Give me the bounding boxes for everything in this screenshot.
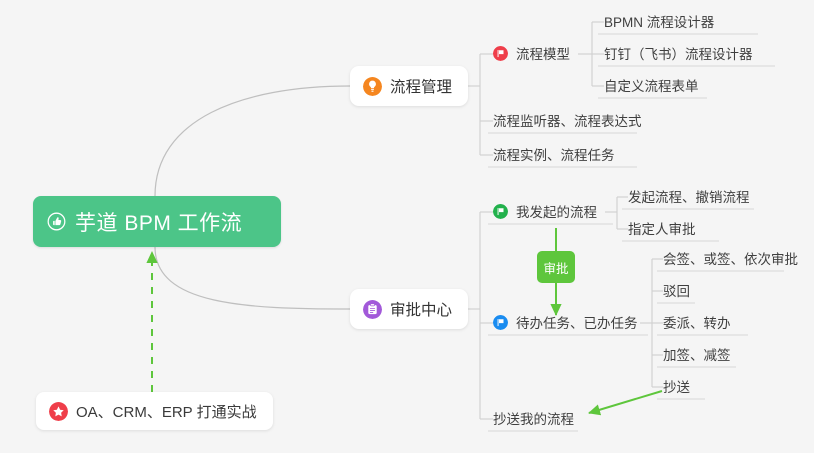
node-reject[interactable]: 驳回 [663,280,690,304]
branch-process-management[interactable]: 流程管理 [350,66,468,106]
node-my-started-processes[interactable]: 我发起的流程 [493,201,597,225]
node-label: 加签、减签 [663,344,731,364]
root-label: 芋道 BPM 工作流 [75,207,242,237]
lightbulb-icon [363,77,382,96]
node-label: 发起流程、撤销流程 [628,186,750,206]
node-label: BPMN 流程设计器 [604,11,714,31]
node-label: 指定人审批 [628,218,696,238]
node-assignee-approval[interactable]: 指定人审批 [628,218,696,242]
node-add-remove-sign[interactable]: 加签、减签 [663,344,731,368]
edge-root-to-approval-center [155,247,350,309]
flag-icon [493,315,508,330]
annotation-label: OA、CRM、ERP 打通实战 [76,401,257,422]
node-process-instance-task[interactable]: 流程实例、流程任务 [493,144,615,168]
star-icon [49,402,68,421]
node-delegate-transfer[interactable]: 委派、转办 [663,312,731,336]
node-label: 钉钉（飞书）流程设计器 [604,43,753,63]
node-cc[interactable]: 抄送 [663,376,690,400]
node-dingtalk-feishu-designer[interactable]: 钉钉（飞书）流程设计器 [604,43,753,67]
node-custom-process-form[interactable]: 自定义流程表单 [604,75,699,99]
annotation-label: 审批 [543,258,568,277]
node-process-model[interactable]: 流程模型 [493,43,570,67]
mindmap-canvas: 芋道 BPM 工作流 流程管理 流程模型 BPMN 流程设计器 钉钉（飞书）流程… [0,0,814,453]
flag-icon [493,46,508,61]
node-label: 自定义流程表单 [604,75,699,95]
clipboard-icon [363,300,382,319]
node-label: 会签、或签、依次审批 [663,248,798,268]
annotation-integration-note[interactable]: OA、CRM、ERP 打通实战 [36,392,273,430]
node-label: 流程模型 [516,43,570,63]
node-countersign-orsign-sequential[interactable]: 会签、或签、依次审批 [663,248,798,272]
node-start-cancel-process[interactable]: 发起流程、撤销流程 [628,186,750,210]
branch-label: 审批中心 [390,298,452,320]
branch-approval-center[interactable]: 审批中心 [350,289,468,329]
root-node[interactable]: 芋道 BPM 工作流 [33,196,281,247]
node-label: 抄送 [663,376,690,396]
flag-icon [493,204,508,219]
node-label: 委派、转办 [663,312,731,332]
node-cc-to-me-processes[interactable]: 抄送我的流程 [493,408,574,432]
node-label: 流程监听器、流程表达式 [493,110,642,130]
annotation-arrow-cc-to-ccme [589,391,662,413]
branch-label: 流程管理 [390,75,452,97]
node-label: 抄送我的流程 [493,408,574,428]
node-label: 待办任务、已办任务 [516,312,638,332]
node-process-listener-expression[interactable]: 流程监听器、流程表达式 [493,110,642,134]
edge-root-to-process-management [155,86,350,196]
node-todo-done-tasks[interactable]: 待办任务、已办任务 [493,312,638,336]
thumbs-up-icon [47,212,66,231]
node-label: 流程实例、流程任务 [493,144,615,164]
annotation-approval-badge: 审批 [537,251,575,283]
node-label: 我发起的流程 [516,201,597,221]
node-label: 驳回 [663,280,690,300]
node-bpmn-designer[interactable]: BPMN 流程设计器 [604,11,714,35]
